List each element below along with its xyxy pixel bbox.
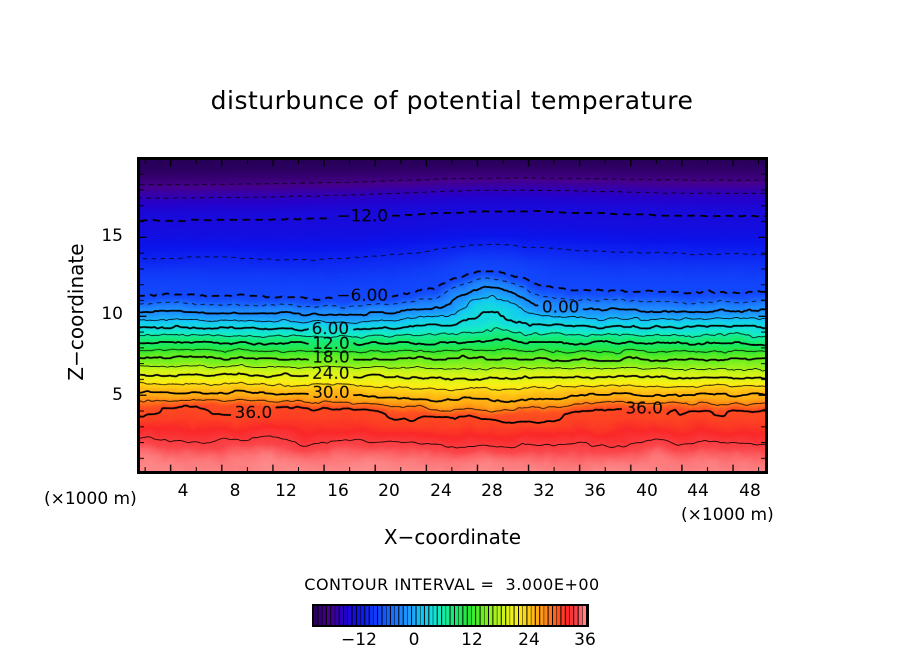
x-tick-label-4: 4 (163, 481, 203, 501)
colorbar-tick-label-12: 12 (452, 630, 492, 650)
page-title: disturbunce of potential temperature (0, 86, 904, 115)
x-tick-label-44: 44 (678, 481, 718, 501)
x-tick-label-8: 8 (215, 481, 255, 501)
colorbar-canvas (314, 606, 587, 625)
contour-plot-figure: disturbunce of potential temperature Z−c… (0, 0, 904, 654)
x-tick-label-12: 12 (266, 481, 306, 501)
x-tick-label-48: 48 (730, 481, 770, 501)
x-tick-label-40: 40 (627, 481, 667, 501)
x-tick-label-36: 36 (575, 481, 615, 501)
x-tick-label-28: 28 (472, 481, 512, 501)
y-tick-label-15: 15 (73, 226, 123, 246)
x-tick-label-24: 24 (421, 481, 461, 501)
colorbar-tick-label-24: 24 (509, 630, 549, 650)
x-axis-units-right: (×1000 m) (681, 505, 774, 525)
colorbar-tick-label-0: 0 (396, 630, 432, 650)
x-tick-label-20: 20 (369, 481, 409, 501)
colorbar-tick-label-36: 36 (565, 630, 605, 650)
x-tick-label-16: 16 (318, 481, 358, 501)
contour-interval-caption: CONTOUR INTERVAL = 3.000E+00 (0, 575, 904, 594)
y-tick-label-5: 5 (83, 385, 123, 405)
plot-area (137, 157, 768, 474)
x-tick-label-32: 32 (524, 481, 564, 501)
x-axis-title: X−coordinate (137, 525, 768, 549)
colorbar-tick-label-neg12: −12 (331, 630, 387, 650)
x-axis-units-left: (×1000 m) (44, 489, 137, 509)
y-tick-label-10: 10 (73, 304, 123, 324)
colorbar (312, 604, 589, 627)
contour-field-canvas (140, 160, 765, 471)
